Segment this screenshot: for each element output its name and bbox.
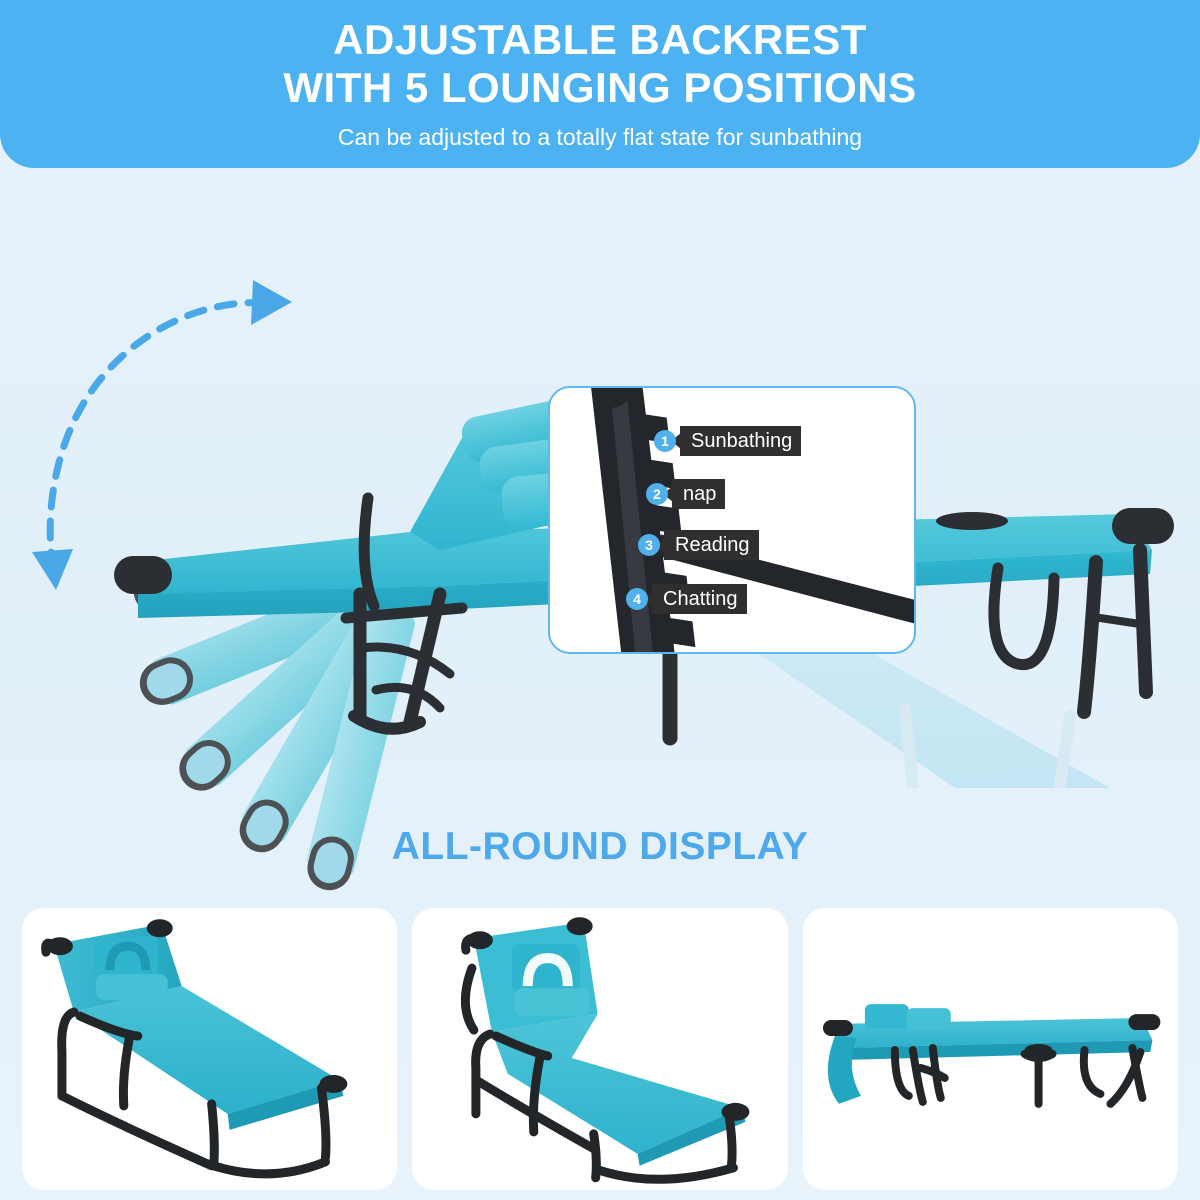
position-badge-1: 1	[654, 430, 676, 452]
position-tag-4: 4 Chatting	[626, 584, 747, 614]
position-label-1: Sunbathing	[680, 426, 801, 456]
chair-photo-flat	[803, 908, 1178, 1190]
header-title-line2: WITH 5 LOUNGING POSITIONS	[283, 64, 916, 112]
chair-photo-reclined	[412, 908, 787, 1190]
position-tag-3: 3 Reading	[638, 530, 759, 560]
card-angled-view[interactable]	[22, 908, 397, 1190]
face-hole-pillow	[94, 936, 168, 1000]
position-badge-3: 3	[638, 534, 660, 556]
face-hole-pillow	[512, 944, 590, 1016]
header-title-line1: ADJUSTABLE BACKREST	[333, 16, 867, 64]
header-subtitle: Can be adjusted to a totally flat state …	[338, 122, 862, 152]
position-label-3: Reading	[664, 530, 759, 560]
header-banner: ADJUSTABLE BACKREST WITH 5 LOUNGING POSI…	[0, 0, 1200, 168]
chair-photo-angled	[22, 908, 397, 1190]
lounging-positions-callout: 1 Sunbathing 2 nap 3 Reading 4 Chatting	[548, 386, 916, 654]
section-title: ALL-ROUND DISPLAY	[0, 825, 1200, 869]
folded-pillow	[865, 1004, 951, 1030]
chair-hinge-assembly	[346, 594, 462, 729]
card-flat-side-view[interactable]	[803, 908, 1178, 1190]
card-reclined-view[interactable]	[412, 908, 787, 1190]
position-badge-2: 2	[646, 483, 668, 505]
hero-section: 1 Sunbathing 2 nap 3 Reading 4 Chatting	[0, 168, 1200, 818]
gallery-cards	[22, 908, 1178, 1190]
position-label-2: nap	[672, 479, 725, 509]
position-tag-2: 2 nap	[646, 479, 725, 509]
position-badge-4: 4	[626, 588, 648, 610]
position-label-4: Chatting	[652, 584, 747, 614]
position-tag-1: 1 Sunbathing	[654, 426, 801, 456]
